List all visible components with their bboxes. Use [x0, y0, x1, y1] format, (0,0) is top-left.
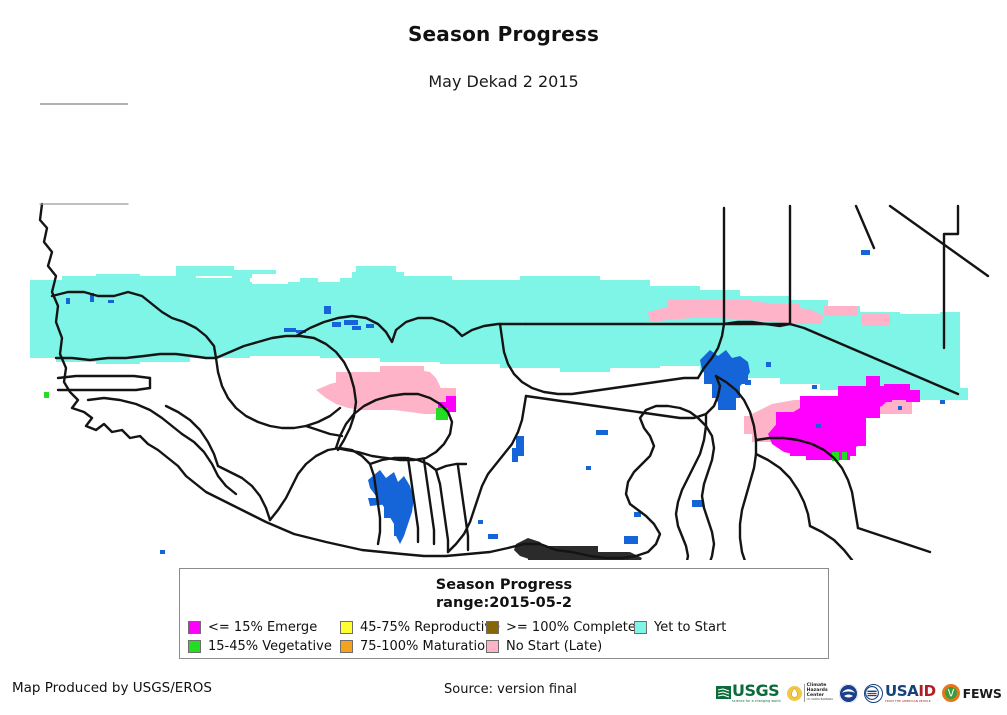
- legend-item-complete: >= 100% Complete: [486, 619, 634, 636]
- usgs-logo: USGS science for a changing world: [716, 683, 781, 703]
- legend-label-vegetative: 15-45% Vegetative: [208, 639, 332, 654]
- swatch-emerge: [188, 621, 201, 634]
- swatch-no-start-late: [486, 640, 499, 653]
- chc-droplet-icon: [787, 686, 802, 701]
- wave-glyph: [717, 688, 730, 698]
- partner-logos: USGS science for a changing world Climat…: [716, 676, 1001, 710]
- legend-label-yet-to-start: Yet to Start: [654, 620, 726, 635]
- legend-label-reproductive: 45-75% Reproductive: [360, 620, 500, 635]
- noaa-seal-icon: [839, 684, 858, 703]
- fews-net-logo: FEWS NET: [942, 684, 1007, 702]
- legend-column-3: >= 100% Complete No Start (Late): [486, 619, 634, 655]
- usgs-tagline: science for a changing world: [732, 700, 781, 703]
- legend-range: range:2015-05-2: [180, 594, 828, 612]
- droplet-glyph: [791, 688, 798, 698]
- legend-item-maturation: 75-100% Maturation: [340, 638, 486, 655]
- legend-item-no-start-late: No Start (Late): [486, 638, 634, 655]
- map-credit: Map Produced by USGS/EROS: [12, 680, 212, 696]
- usaid-tagline: FROM THE AMERICAN PEOPLE: [885, 700, 936, 703]
- legend-label-no-start-late: No Start (Late): [506, 639, 602, 654]
- swatch-complete: [486, 621, 499, 634]
- map-canvas[interactable]: [0, 100, 1007, 560]
- legend-item-yet-to-start: Yet to Start: [634, 619, 726, 636]
- usaid-wordmark: USAID: [885, 684, 936, 699]
- chc-subline: UC SANTA BARBARA: [807, 699, 833, 702]
- legend-columns: <= 15% Emerge 15-45% Vegetative 45-75% R…: [180, 619, 830, 655]
- usgs-wave-icon: [716, 686, 731, 699]
- page-subtitle: May Dekad 2 2015: [0, 72, 1007, 91]
- noaa-bird-glyph: [839, 684, 858, 703]
- page-title: Season Progress: [0, 22, 1007, 46]
- usgs-wordmark: USGS: [732, 683, 781, 699]
- legend-label-complete: >= 100% Complete: [506, 620, 636, 635]
- legend-item-emerge: <= 15% Emerge: [188, 619, 340, 636]
- legend-item-reproductive: 45-75% Reproductive: [340, 619, 486, 636]
- fews-wordmark: FEWS NET: [963, 686, 1007, 701]
- noaa-logo: [839, 684, 858, 703]
- swatch-maturation: [340, 640, 353, 653]
- legend-column-2: 45-75% Reproductive 75-100% Maturation: [340, 619, 486, 655]
- map-legend: Season Progress range:2015-05-2 <= 15% E…: [179, 568, 829, 659]
- chc-text: Climate Hazards Center UC SANTA BARBARA: [804, 684, 833, 702]
- legend-column-1: <= 15% Emerge 15-45% Vegetative: [188, 619, 340, 655]
- swatch-vegetative: [188, 640, 201, 653]
- usaid-logo: USAID FROM THE AMERICAN PEOPLE: [864, 684, 936, 703]
- legend-column-4: Yet to Start: [634, 619, 726, 636]
- usaid-seal-glyph: [865, 686, 879, 700]
- usgs-text: USGS science for a changing world: [732, 683, 781, 703]
- legend-label-emerge: <= 15% Emerge: [208, 620, 317, 635]
- swatch-yet-to-start: [634, 621, 647, 634]
- globe-glyph: [942, 684, 960, 702]
- climate-hazards-center-logo: Climate Hazards Center UC SANTA BARBARA: [787, 684, 833, 702]
- legend-title: Season Progress: [180, 576, 828, 594]
- swatch-reproductive: [340, 621, 353, 634]
- usaid-seal-icon: [864, 684, 883, 703]
- map-page: Season Progress May Dekad 2 2015: [0, 0, 1007, 715]
- fews-globe-icon: [942, 684, 960, 702]
- map-source: Source: version final: [444, 682, 577, 697]
- usaid-text: USAID FROM THE AMERICAN PEOPLE: [885, 684, 936, 703]
- legend-label-maturation: 75-100% Maturation: [360, 639, 493, 654]
- legend-item-vegetative: 15-45% Vegetative: [188, 638, 340, 655]
- season-progress-map: [0, 100, 1007, 560]
